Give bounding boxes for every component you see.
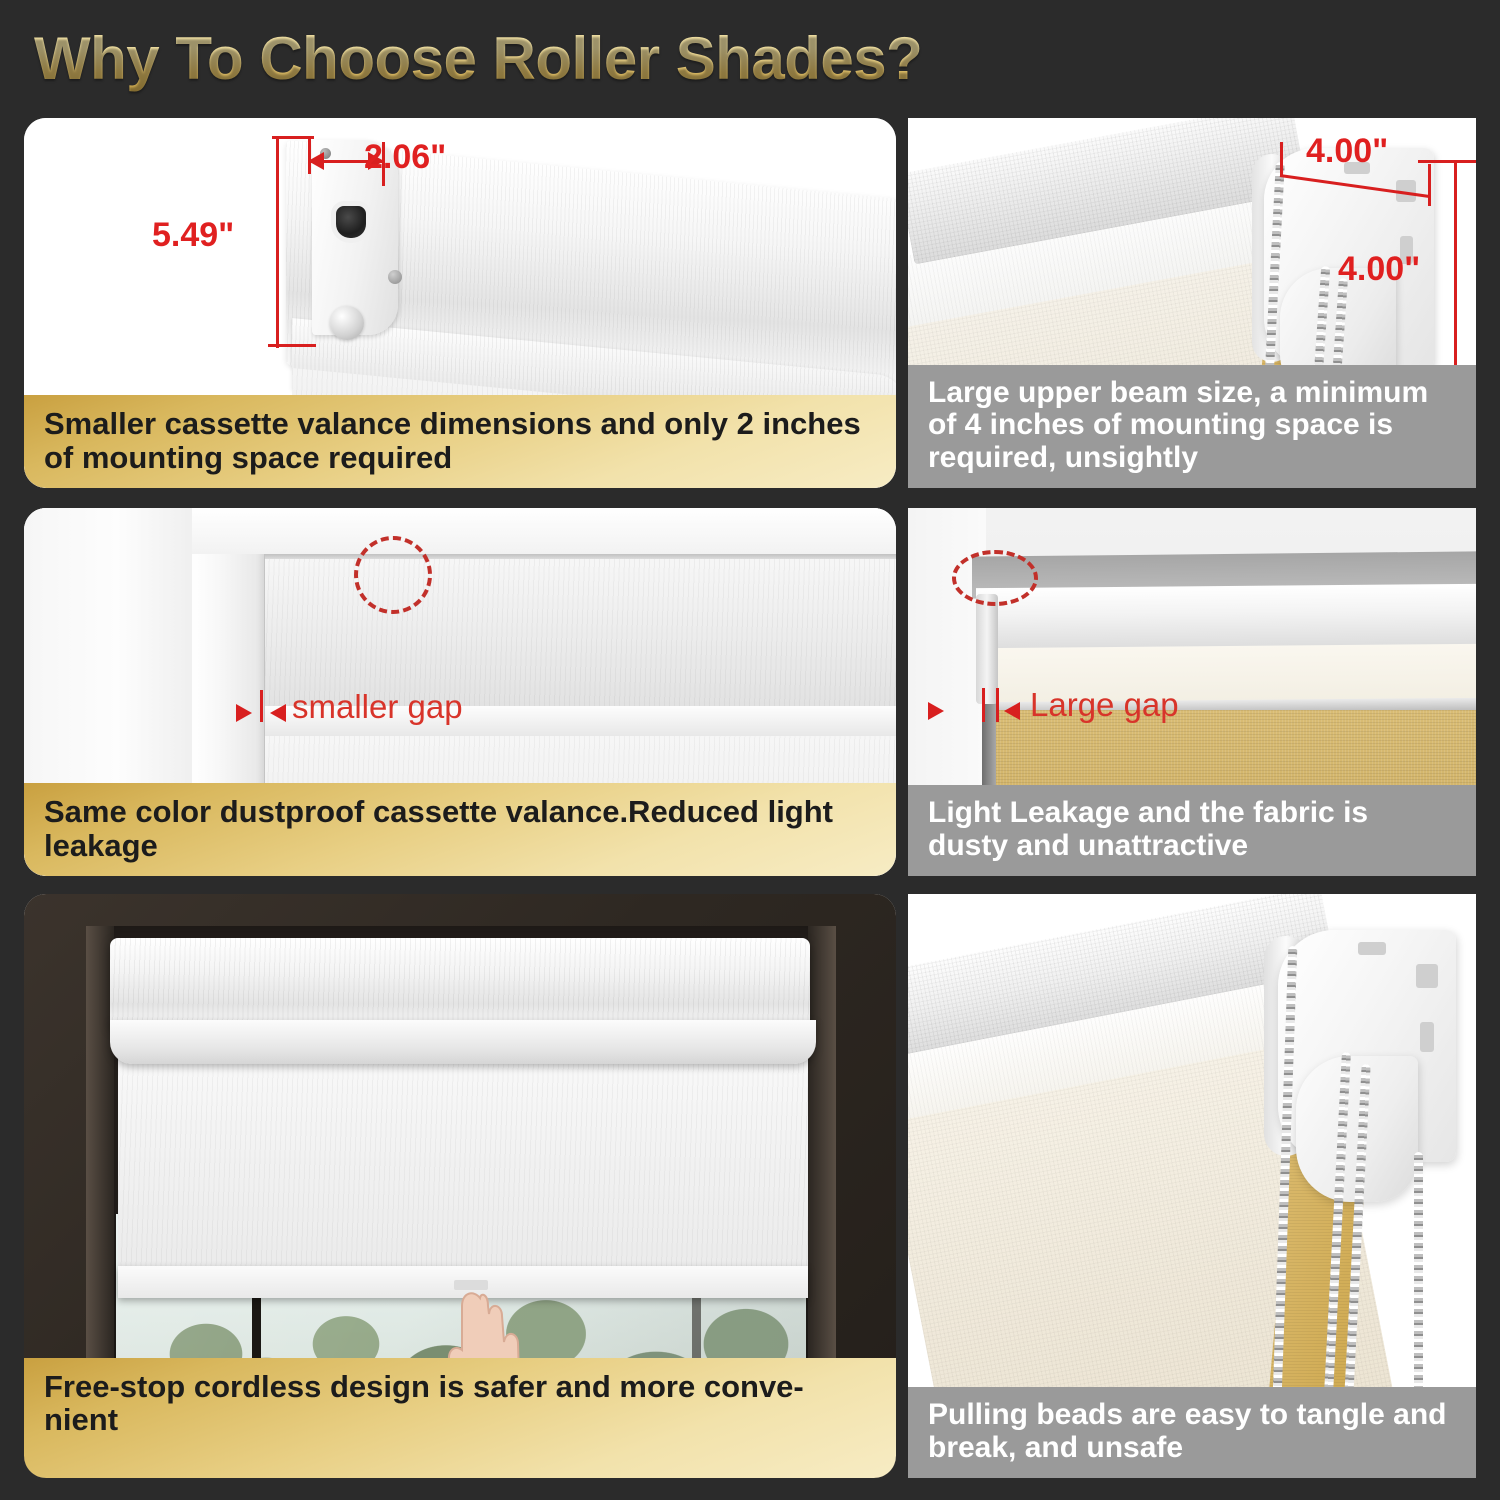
gap-arrow-right-icon xyxy=(928,702,944,720)
dimension-label-width: 2.06" xyxy=(364,138,446,177)
panel-free-stop-cordless: Free-stop cordless design is safer and m… xyxy=(24,894,896,1478)
side-bracket xyxy=(976,594,998,704)
dimension-tick xyxy=(268,344,316,347)
panel-dustproof-cassette: smaller gap Same color dustproof cassett… xyxy=(24,508,896,876)
bracket-slot-icon xyxy=(1416,964,1438,988)
dimension-label-height: 5.49" xyxy=(152,216,234,255)
screw-icon xyxy=(388,270,402,284)
window-frame-head xyxy=(192,508,896,554)
infographic-root: Why To Choose Roller Shades? 2.06" 5.49" xyxy=(0,0,1500,1500)
dimension-label-height: 4.00" xyxy=(1338,250,1420,289)
gap-tick xyxy=(260,690,263,722)
dimension-tick xyxy=(1418,160,1476,163)
bracket-hole-icon xyxy=(336,206,366,238)
cassette-valance xyxy=(110,938,810,1026)
dimension-tick xyxy=(272,136,314,139)
gap-arrow-left-icon xyxy=(270,704,286,722)
highlight-circle-icon xyxy=(952,550,1038,606)
dimension-tick xyxy=(1428,164,1431,206)
dimension-tick xyxy=(1280,142,1283,176)
gap-label-large: Large gap xyxy=(1030,686,1179,724)
caption-free-stop-cordless: Free-stop cordless design is safer and m… xyxy=(24,1358,896,1478)
panel-smaller-cassette: 2.06" 5.49" Smaller cassette valance dim… xyxy=(24,118,896,488)
dimension-line-height xyxy=(276,136,279,348)
dimension-line-height xyxy=(1454,160,1457,378)
gap-arrow-right-icon xyxy=(236,704,252,722)
caption-smaller-cassette: Smaller cassette valance dimensions and … xyxy=(24,395,896,488)
page-title: Why To Choose Roller Shades? xyxy=(34,24,922,93)
bracket-slot-icon xyxy=(1420,1022,1434,1052)
bracket-slot-icon xyxy=(1358,942,1386,955)
screw-icon xyxy=(330,306,364,340)
gap-tick xyxy=(982,688,985,722)
cassette-valance-lip xyxy=(110,1020,816,1064)
panel-light-leakage: Large gap Light Leakage and the fabric i… xyxy=(908,508,1476,876)
dimension-arrow-left-icon xyxy=(308,152,324,170)
caption-light-leakage: Light Leakage and the fabric is dusty an… xyxy=(908,785,1476,876)
panel-pulling-beads: Pulling beads are easy to tangle and bre… xyxy=(908,894,1476,1478)
gap-arrow-left-icon xyxy=(1004,702,1020,720)
caption-pulling-beads: Pulling beads are easy to tangle and bre… xyxy=(908,1387,1476,1478)
caption-dustproof-cassette: Same color dustproof cassette valance.Re… xyxy=(24,783,896,876)
gap-label-smaller: smaller gap xyxy=(292,688,463,726)
caption-large-upper-beam: Large upper beam size, a minimum of 4 in… xyxy=(908,365,1476,488)
highlight-circle-icon xyxy=(354,536,432,614)
panel-large-upper-beam: 4.00" 4.00" Large upper beam size, a min… xyxy=(908,118,1476,488)
gap-tick xyxy=(996,688,999,722)
dimension-label-width: 4.00" xyxy=(1306,132,1388,171)
shade-fabric xyxy=(118,1054,808,1272)
